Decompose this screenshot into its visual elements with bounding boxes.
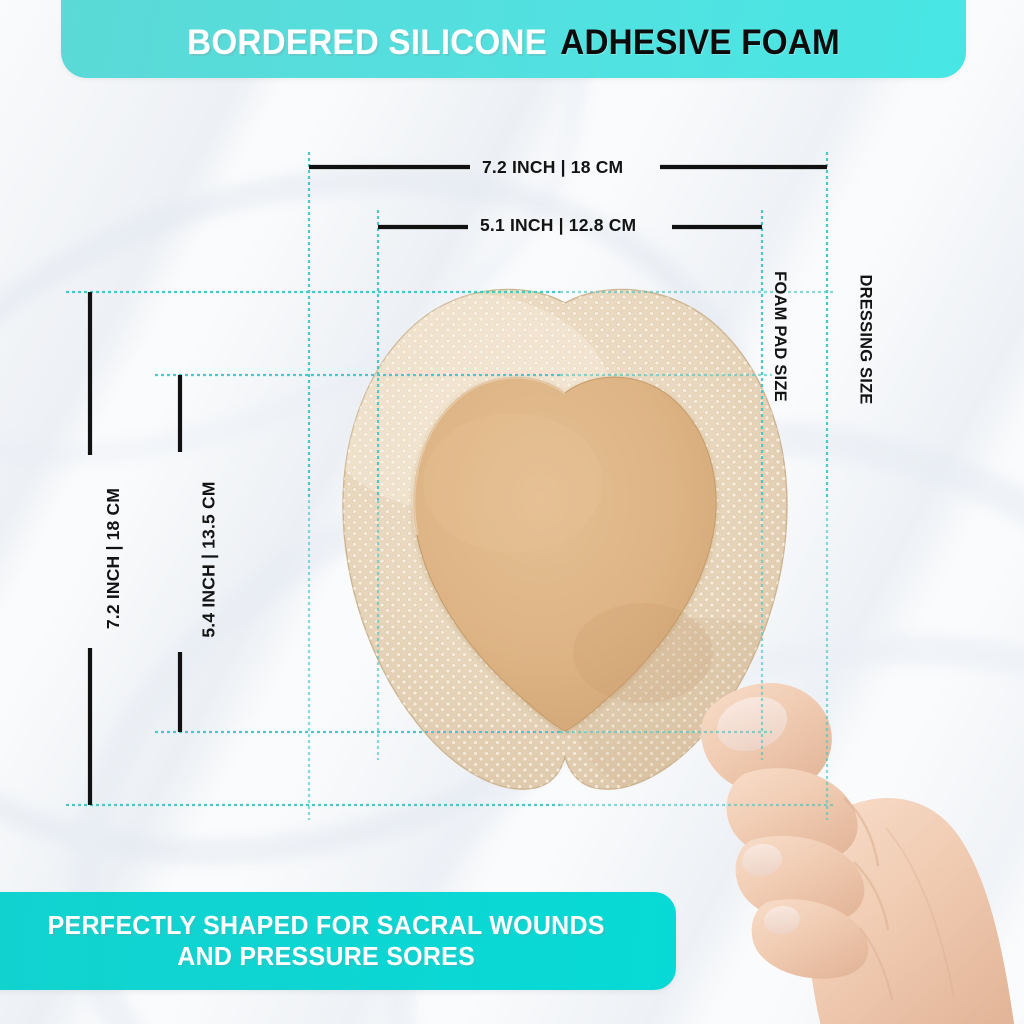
title-part-silicone: BORDERED SILICONE: [187, 23, 547, 63]
hand-illustration: [648, 648, 1024, 1024]
footer-line-1: PERFECTLY SHAPED FOR SACRAL WOUNDS: [47, 910, 604, 941]
hand-holding-product: [648, 648, 1024, 1024]
footer-line-2: AND PRESSURE SORES: [177, 941, 475, 972]
footer-banner: PERFECTLY SHAPED FOR SACRAL WOUNDS AND P…: [0, 892, 676, 990]
page-title: BORDERED SILICONE ADHESIVE FOAM: [187, 23, 840, 78]
header-banner: BORDERED SILICONE ADHESIVE FOAM: [61, 0, 966, 78]
title-part-foam: ADHESIVE FOAM: [560, 23, 840, 63]
product-infographic: BORDERED SILICONE ADHESIVE FOAM: [0, 0, 1024, 1024]
